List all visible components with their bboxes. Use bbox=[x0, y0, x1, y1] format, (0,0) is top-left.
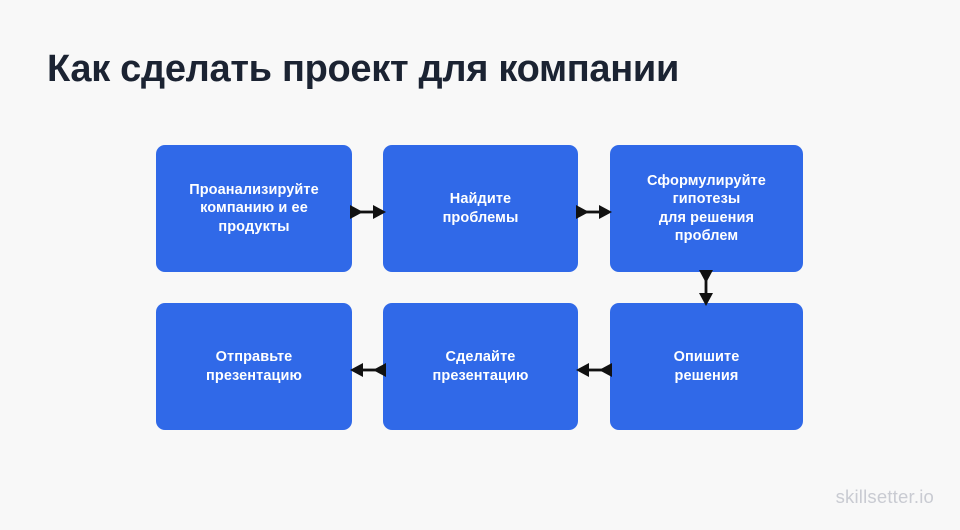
slide-canvas: Как сделать проект для компании Проанали… bbox=[0, 0, 960, 530]
flow-node-1: Проанализируйте компанию и ее продукты bbox=[156, 145, 352, 272]
flow-node-6-label: Отправьте презентацию bbox=[206, 348, 302, 385]
flowchart: Проанализируйте компанию и ее продукты Н… bbox=[0, 0, 960, 530]
flow-node-6: Отправьте презентацию bbox=[156, 303, 352, 430]
arrow-left-icon bbox=[576, 356, 612, 384]
flow-node-5-label: Сделайте презентацию bbox=[433, 348, 529, 385]
flow-node-5: Сделайте презентацию bbox=[383, 303, 578, 430]
watermark-skillsetter: skillsetter.io bbox=[836, 486, 934, 508]
flow-node-4: Опишите решения bbox=[610, 303, 803, 430]
flow-node-3-label: Сформулируйте гипотезы для решения пробл… bbox=[647, 172, 766, 246]
flow-node-2: Найдите проблемы bbox=[383, 145, 578, 272]
arrow-left-icon bbox=[350, 356, 386, 384]
flow-node-1-label: Проанализируйте компанию и ее продукты bbox=[189, 181, 319, 237]
arrow-right-icon bbox=[576, 198, 612, 226]
flow-node-4-label: Опишите решения bbox=[674, 348, 740, 385]
arrow-down-icon bbox=[692, 270, 720, 306]
arrow-right-icon bbox=[350, 198, 386, 226]
flow-node-3: Сформулируйте гипотезы для решения пробл… bbox=[610, 145, 803, 272]
flow-node-2-label: Найдите проблемы bbox=[443, 190, 519, 227]
